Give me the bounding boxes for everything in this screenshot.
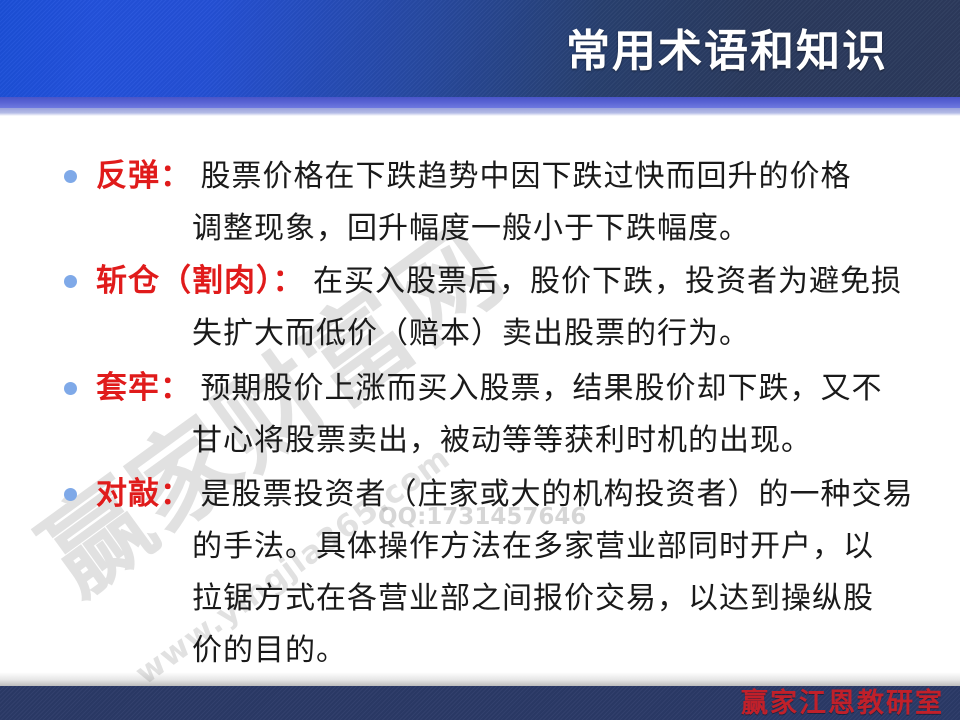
term-label: 套牢 [96,370,160,406]
term-colon: ： [160,158,191,194]
list-item-first-line: 反弹： 股票价格在下跌趋势中因下跌过快而回升的价格 [96,150,938,203]
list-item: 对敲： 是股票投资者（庄家或大的机构投资者）的一种交易 的手法。具体操作方法在多… [58,468,938,677]
slide-header: 常用术语和知识 [0,0,960,116]
list-item-body: 对敲： 是股票投资者（庄家或大的机构投资者）的一种交易 的手法。具体操作方法在多… [96,468,938,677]
list-item-first-line: 对敲： 是股票投资者（庄家或大的机构投资者）的一种交易 [96,468,938,521]
bullet-dot-icon [64,275,77,288]
definition-line: 的手法。具体操作方法在多家营业部同时开户，以 [192,529,874,564]
term-colon: ： [160,476,191,512]
term-colon: ： [160,370,191,406]
bullet-dot-icon [64,488,77,501]
definition-line-wrap: 价的目的。 [96,625,938,677]
definition-line: 价的目的。 [192,633,347,668]
definition-line-wrap: 失扩大而低价（赔本）卖出股票的行为。 [96,308,938,360]
definition-line: 是股票投资者（庄家或大的机构投资者）的一种交易 [201,477,914,512]
term-label: 斩仓（割肉） [96,263,273,299]
term-label: 反弹 [96,158,160,194]
definition-line: 失扩大而低价（赔本）卖出股票的行为。 [192,316,750,351]
definition-line-wrap: 的手法。具体操作方法在多家营业部同时开户，以 [96,521,938,573]
list-item-body: 套牢： 预期股价上涨而买入股票，结果股价却下跌，又不 甘心将股票卖出，被动等等获… [96,362,938,467]
bullet-dot-icon [64,170,77,183]
list-item-first-line: 斩仓（割肉）： 在买入股票后，股价下跌，投资者为避免损 [96,255,938,308]
definition-line: 调整现象，回升幅度一般小于下跌幅度。 [192,211,750,246]
definition-line: 在买入股票后，股价下跌，投资者为避免损 [313,264,902,299]
list-item: 反弹： 股票价格在下跌趋势中因下跌过快而回升的价格 调整现象，回升幅度一般小于下… [58,150,938,255]
list-item-body: 反弹： 股票价格在下跌趋势中因下跌过快而回升的价格 调整现象，回升幅度一般小于下… [96,150,938,255]
list-item-body: 斩仓（割肉）： 在买入股票后，股价下跌，投资者为避免损 失扩大而低价（赔本）卖出… [96,255,938,360]
list-item: 斩仓（割肉）： 在买入股票后，股价下跌，投资者为避免损 失扩大而低价（赔本）卖出… [58,255,938,360]
slide-root: 常用术语和知识 赢家财富网 www.yingjia365.com QQ:1731… [0,0,960,720]
header-accent-band-mid [0,97,960,108]
definition-line: 股票价格在下跌趋势中因下跌过快而回升的价格 [201,159,852,194]
slide-footer: 赢家江恩教研室 [0,686,960,720]
definition-line-wrap: 甘心将股票卖出，被动等等获利时机的出现。 [96,415,938,467]
definition-line: 预期股价上涨而买入股票，结果股价却下跌，又不 [201,371,883,406]
bullet-dot-icon [64,382,77,395]
definition-line: 甘心将股票卖出，被动等等获利时机的出现。 [192,423,812,458]
footer-brand-label: 赢家江恩教研室 [741,689,944,719]
header-accent-band-low [0,108,960,116]
list-item-first-line: 套牢： 预期股价上涨而买入股票，结果股价却下跌，又不 [96,362,938,415]
slide-content: 反弹： 股票价格在下跌趋势中因下跌过快而回升的价格 调整现象，回升幅度一般小于下… [0,116,960,686]
term-label: 对敲 [96,476,160,512]
definition-line-wrap: 拉锯方式在各营业部之间报价交易，以达到操纵股 [96,573,938,625]
definition-line: 拉锯方式在各营业部之间报价交易，以达到操纵股 [192,581,874,616]
term-colon: ： [273,263,304,299]
definition-line-wrap: 调整现象，回升幅度一般小于下跌幅度。 [96,203,938,255]
list-item: 套牢： 预期股价上涨而买入股票，结果股价却下跌，又不 甘心将股票卖出，被动等等获… [58,362,938,467]
page-title: 常用术语和知识 [566,30,888,74]
